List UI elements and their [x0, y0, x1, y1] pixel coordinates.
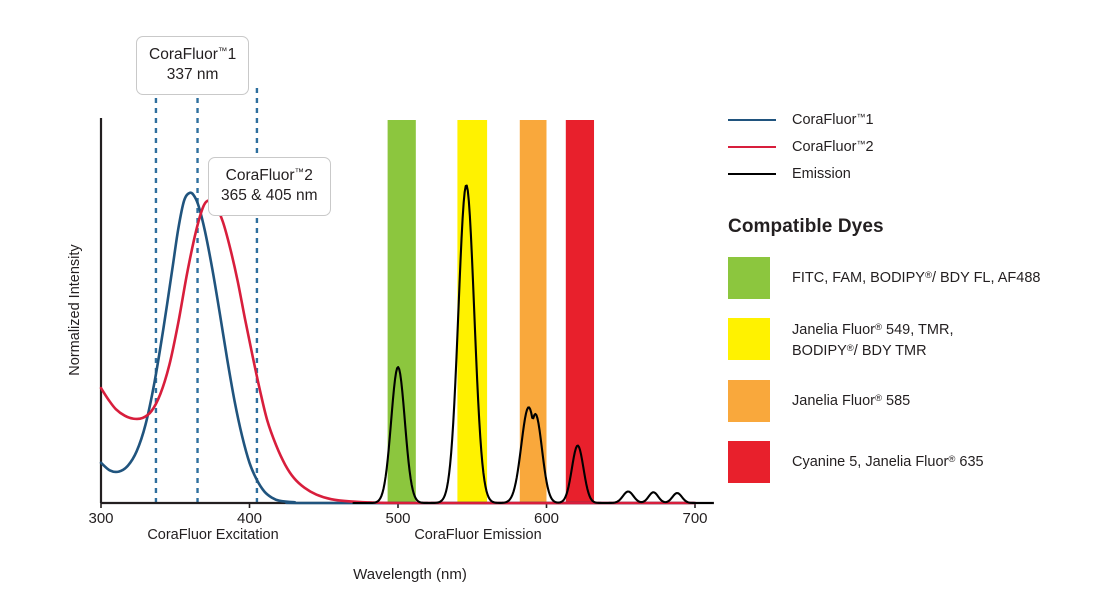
dye-text: Janelia Fluor [792, 393, 875, 409]
legend-label-text: CoraFluor [792, 112, 856, 128]
callout-corafluor1: CoraFluor™1 337 nm [136, 36, 249, 95]
emission-band-3 [566, 120, 594, 503]
dye-color-swatch [728, 257, 770, 299]
dye-item-2: Janelia Fluor® 585 [728, 380, 1098, 422]
legend-label-number: 1 [865, 112, 873, 128]
dye-label-line2: BODIPY®/ BDY TMR [792, 341, 953, 362]
callout-corafluor2-line2: 365 & 405 nm [221, 186, 318, 206]
dye-label-line1: Cyanine 5, Janelia Fluor® 635 [792, 452, 984, 473]
dye-text-tail: 635 [955, 454, 983, 470]
registered-symbol: ® [847, 343, 854, 354]
dye-text-tail: 549, TMR, [882, 322, 953, 338]
spectra-figure: CoraFluor™1 337 nm CoraFluor™2 365 & 405… [0, 0, 1110, 612]
registered-symbol: ® [875, 322, 882, 333]
dye-text: FITC, FAM, BODIPY [792, 270, 925, 286]
registered-symbol: ® [925, 270, 932, 281]
dye-item-label: Janelia Fluor® 549, TMR,BODIPY®/ BDY TMR [792, 318, 953, 361]
dye-item-label: FITC, FAM, BODIPY®/ BDY FL, AF488 [792, 257, 1040, 289]
x-tick-label-500: 500 [368, 510, 428, 527]
dye-item-0: FITC, FAM, BODIPY®/ BDY FL, AF488 [728, 257, 1098, 299]
dye-color-swatch [728, 380, 770, 422]
legend-panel: CoraFluor™1CoraFluor™2Emission Compatibl… [728, 106, 1098, 483]
series-legend: CoraFluor™1CoraFluor™2Emission [728, 106, 1098, 187]
legend-line-swatch [728, 173, 776, 175]
legend-label-number: 2 [865, 139, 873, 155]
x-tick-label-600: 600 [517, 510, 577, 527]
x-axis-title: Wavelength (nm) [260, 566, 560, 583]
callout-corafluor1-line2: 337 nm [149, 65, 236, 85]
callout-corafluor2-line1: CoraFluor™2 [221, 166, 318, 186]
legend-item-1: CoraFluor™2 [728, 133, 1098, 160]
dye-item-label: Cyanine 5, Janelia Fluor® 635 [792, 441, 984, 473]
dye-color-swatch [728, 318, 770, 360]
compatible-dyes-list: FITC, FAM, BODIPY®/ BDY FL, AF488Janelia… [728, 257, 1098, 483]
legend-item-label: CoraFluor™1 [792, 112, 874, 128]
legend-label-text: Emission [792, 166, 851, 182]
callout-corafluor2: CoraFluor™2 365 & 405 nm [208, 157, 331, 216]
legend-item-label: CoraFluor™2 [792, 139, 874, 155]
dye-color-swatch [728, 441, 770, 483]
dye-label-line1: FITC, FAM, BODIPY®/ BDY FL, AF488 [792, 268, 1040, 289]
dye-text: Cyanine 5, Janelia Fluor [792, 454, 948, 470]
legend-line-swatch [728, 119, 776, 121]
dye-item-3: Cyanine 5, Janelia Fluor® 635 [728, 441, 1098, 483]
dye-text: BODIPY [792, 343, 847, 359]
dye-text-tail: 585 [882, 393, 910, 409]
dye-text: Janelia Fluor [792, 322, 875, 338]
y-axis-title: Normalized Intensity [67, 210, 83, 410]
x-tick-label-700: 700 [665, 510, 725, 527]
legend-line-swatch [728, 146, 776, 148]
dye-item-label: Janelia Fluor® 585 [792, 380, 910, 412]
region-label-excitation: CoraFluor Excitation [88, 527, 338, 543]
compatible-dyes-title: Compatible Dyes [728, 216, 1098, 238]
emission-band-1 [457, 120, 487, 503]
dye-text-tail: / BDY FL, AF488 [932, 270, 1041, 286]
legend-item-0: CoraFluor™1 [728, 106, 1098, 133]
legend-item-label: Emission [792, 166, 851, 182]
callout-corafluor1-line1: CoraFluor™1 [149, 45, 236, 65]
emission-band-0 [388, 120, 416, 503]
x-tick-label-400: 400 [220, 510, 280, 527]
dye-label-line1: Janelia Fluor® 549, TMR, [792, 320, 953, 341]
dye-label-line1: Janelia Fluor® 585 [792, 391, 910, 412]
registered-symbol: ® [875, 393, 882, 404]
region-label-emission: CoraFluor Emission [353, 527, 603, 543]
dye-text-tail: / BDY TMR [854, 343, 927, 359]
x-tick-label-300: 300 [71, 510, 131, 527]
legend-item-2: Emission [728, 160, 1098, 187]
legend-label-text: CoraFluor [792, 139, 856, 155]
dye-item-1: Janelia Fluor® 549, TMR,BODIPY®/ BDY TMR [728, 318, 1098, 361]
